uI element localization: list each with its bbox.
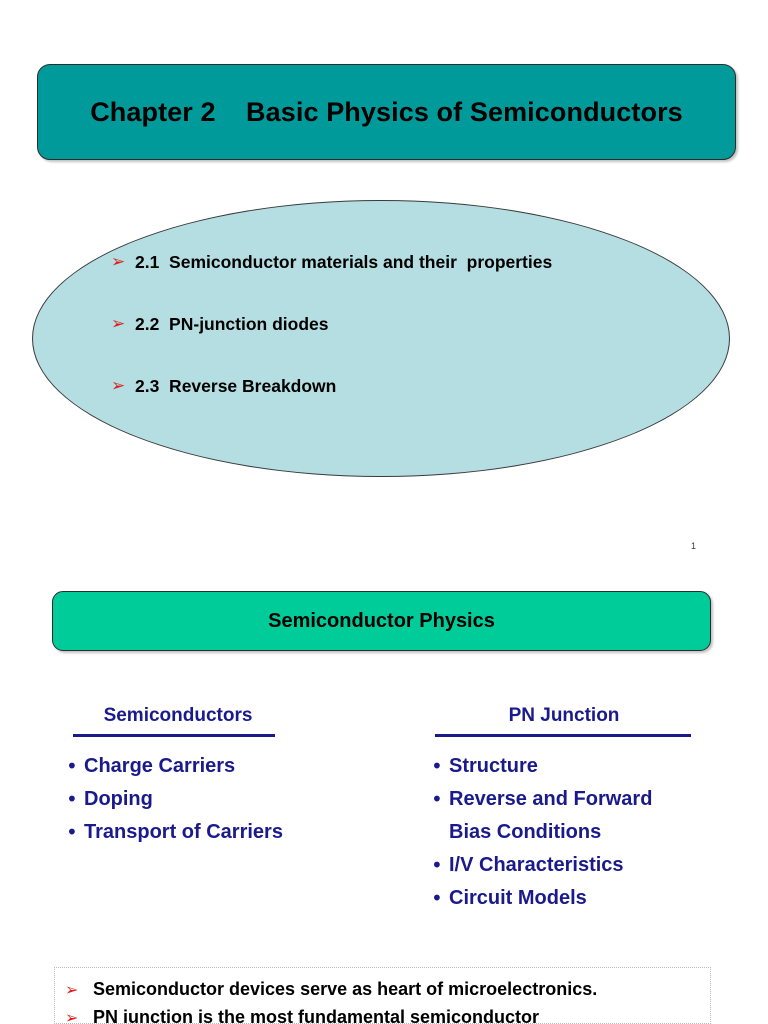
column-rule	[435, 734, 691, 737]
key-point-row: ➢ PN junction is the most fundamental se…	[65, 1005, 700, 1024]
arrow-bullet-icon: ➢	[111, 313, 135, 335]
list-item-label: Circuit Models	[449, 882, 587, 914]
bullet-icon: •	[66, 816, 84, 848]
slide-semiconductor-physics: Semiconductor Physics Semiconductors • C…	[0, 570, 768, 1024]
topic-label: 2.2 PN-junction diodes	[135, 313, 329, 335]
topic-label: 2.1 Semiconductor materials and their pr…	[135, 251, 552, 273]
topic-label: 2.3 Reverse Breakdown	[135, 375, 336, 397]
column-item-list: • Charge Carriers • Doping • Transport o…	[66, 750, 406, 848]
list-item-label: Structure	[449, 750, 538, 782]
topic-row: ➢ 2.3 Reverse Breakdown	[111, 375, 691, 397]
arrow-bullet-icon: ➢	[111, 375, 135, 397]
list-item-continuation: Bias Conditions	[431, 816, 731, 848]
bullet-icon: •	[431, 783, 449, 815]
list-item: • Circuit Models	[431, 882, 731, 914]
bullet-icon: •	[66, 750, 84, 782]
arrow-bullet-icon: ➢	[65, 1005, 93, 1024]
list-item: • Reverse and Forward	[431, 783, 731, 815]
slide-chapter-title: Chapter 2 Basic Physics of Semiconductor…	[0, 0, 768, 570]
list-item-label: I/V Characteristics	[449, 849, 624, 881]
bullet-icon: •	[66, 783, 84, 815]
list-item-label: Doping	[84, 783, 153, 815]
arrow-bullet-icon: ➢	[111, 251, 135, 273]
bullet-icon: •	[431, 882, 449, 914]
list-item-label: Reverse and Forward	[449, 783, 652, 815]
key-point-row: ➢ Semiconductor devices serve as heart o…	[65, 977, 700, 1002]
column-rule	[73, 734, 275, 737]
chapter-title-text: Chapter 2 Basic Physics of Semiconductor…	[90, 97, 683, 128]
column-heading-semiconductors: Semiconductors	[72, 705, 284, 727]
list-item: • Doping	[66, 783, 406, 815]
semiconductor-physics-title: Semiconductor Physics	[268, 610, 495, 633]
two-column-area: Semiconductors • Charge Carriers • Dopin…	[0, 705, 768, 925]
key-point-label: PN junction is the most fundamental semi…	[93, 1005, 539, 1024]
key-point-label: Semiconductor devices serve as heart of …	[93, 977, 597, 1002]
topic-row: ➢ 2.1 Semiconductor materials and their …	[111, 251, 691, 273]
column-item-list: • Structure • Reverse and Forward Bias C…	[431, 750, 731, 914]
arrow-bullet-icon: ➢	[65, 977, 93, 1002]
column-heading-pn-junction: PN Junction	[435, 705, 693, 727]
list-item-label: Charge Carriers	[84, 750, 235, 782]
topic-row: ➢ 2.2 PN-junction diodes	[111, 313, 691, 335]
topics-list: ➢ 2.1 Semiconductor materials and their …	[111, 251, 691, 437]
list-item: • Structure	[431, 750, 731, 782]
column-semiconductors: Semiconductors • Charge Carriers • Dopin…	[66, 705, 406, 849]
list-item: • Transport of Carriers	[66, 816, 406, 848]
topics-ellipse: ➢ 2.1 Semiconductor materials and their …	[32, 200, 730, 477]
page-number: 1	[691, 541, 696, 551]
bullet-icon: •	[431, 849, 449, 881]
column-pn-junction: PN Junction • Structure • Reverse and Fo…	[431, 705, 731, 915]
bullet-icon: •	[431, 750, 449, 782]
list-item-label: Bias Conditions	[449, 816, 601, 848]
key-points-box: ➢ Semiconductor devices serve as heart o…	[54, 967, 711, 1024]
bullet-icon-placeholder	[431, 816, 449, 848]
semiconductor-physics-banner: Semiconductor Physics	[52, 591, 711, 651]
list-item: • I/V Characteristics	[431, 849, 731, 881]
chapter-title-banner: Chapter 2 Basic Physics of Semiconductor…	[37, 64, 736, 160]
list-item-label: Transport of Carriers	[84, 816, 283, 848]
list-item: • Charge Carriers	[66, 750, 406, 782]
